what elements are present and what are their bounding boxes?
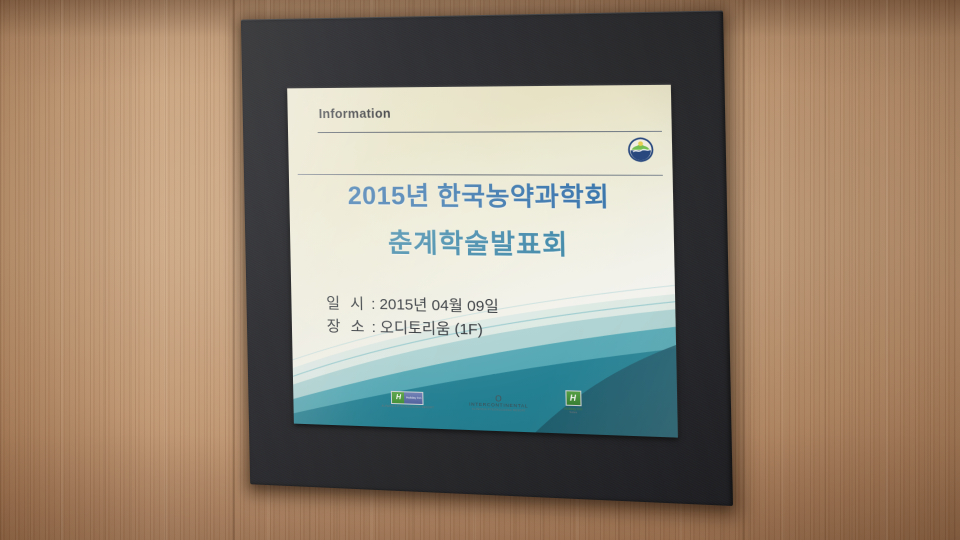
framed-poster[interactable]: Information 2015년 한국농약과학회 춘계학술발표회 일 시: [241, 10, 733, 506]
holiday-inn-wordmark: Holiday Inn: [404, 393, 423, 405]
photo-scene: Information 2015년 한국농약과학회 춘계학술발표회 일 시: [0, 0, 960, 540]
poster-slide: Information 2015년 한국농약과학회 춘계학술발표회 일 시: [287, 85, 678, 438]
holiday-inn-wordmark-text: Holiday Inn: [406, 397, 421, 401]
sponsor-holiday-inn-resort: H Holiday Inn ALPENSIA PYEONGCHANG RESOR…: [381, 391, 434, 410]
poster-details: 일 시 : 2015년 04월 09일 장 소 : 오디토리움 (1F): [326, 292, 499, 343]
poster-header-label: Information: [319, 106, 391, 120]
sponsor-holiday-inn-suites: H Holiday Inn Suites: [564, 391, 582, 415]
detail-value-venue: 오디토리움 (1F): [380, 319, 483, 339]
detail-label-venue: 장 소: [327, 318, 368, 336]
holiday-inn-suites-icon: H: [565, 391, 581, 407]
holiday-inn-suites-mark-letter: H: [570, 394, 576, 402]
detail-label-date: 일 시: [326, 295, 367, 313]
title-line-1: 2015년 한국농약과학회: [289, 181, 673, 214]
title-line-2: 춘계학술발표회: [290, 222, 675, 264]
holiday-inn-mark-letter: H: [392, 392, 404, 403]
detail-separator: :: [371, 319, 376, 336]
detail-value-date: 2015년 04월 09일: [379, 296, 499, 316]
detail-row-venue: 장 소 : 오디토리움 (1F): [327, 315, 500, 343]
poster-title-block: 2015년 한국농약과학회 춘계학술발표회: [289, 181, 674, 264]
header-rule-secondary: [298, 174, 663, 176]
society-emblem-icon: [627, 136, 656, 163]
sponsor-intercontinental: O INTERCONTINENTAL ALPENSIA PYEONGCHANG …: [469, 395, 529, 414]
header-rule-primary: [318, 131, 662, 133]
holiday-inn-suites-subtext: Suites: [569, 411, 577, 414]
holiday-inn-resort-icon: H Holiday Inn: [391, 391, 424, 405]
detail-separator: :: [371, 296, 376, 313]
